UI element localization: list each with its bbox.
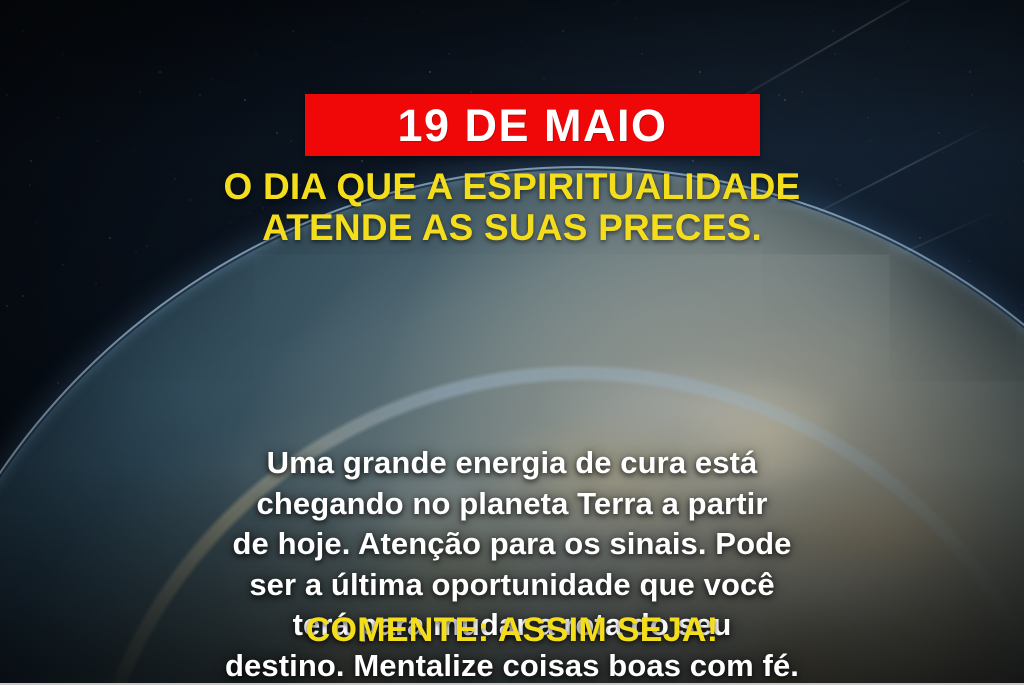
poster-content: 19 DE MAIO O DIA QUE A ESPIRITUALIDADE A… [0, 0, 1024, 683]
poster-canvas: 19 DE MAIO O DIA QUE A ESPIRITUALIDADE A… [0, 0, 1024, 685]
date-banner: 19 DE MAIO [305, 94, 760, 156]
date-banner-text: 19 DE MAIO [397, 103, 667, 148]
headline: O DIA QUE A ESPIRITUALIDADE ATENDE AS SU… [62, 166, 962, 249]
headline-line-2: ATENDE AS SUAS PRECES. [62, 207, 962, 248]
call-to-action-text: COMENTE: ASSIM SEJA! [62, 612, 962, 649]
body-line-6: destino. Mentalize coisas boas com fé. [47, 646, 977, 685]
body-line-2: chegando no planeta Terra a partir [47, 484, 977, 525]
body-line-3: de hoje. Atenção para os sinais. Pode [47, 524, 977, 565]
body-line-4: ser a última oportunidade que você [47, 565, 977, 606]
headline-line-1: O DIA QUE A ESPIRITUALIDADE [62, 166, 962, 207]
body-line-1: Uma grande energia de cura está [47, 443, 977, 484]
